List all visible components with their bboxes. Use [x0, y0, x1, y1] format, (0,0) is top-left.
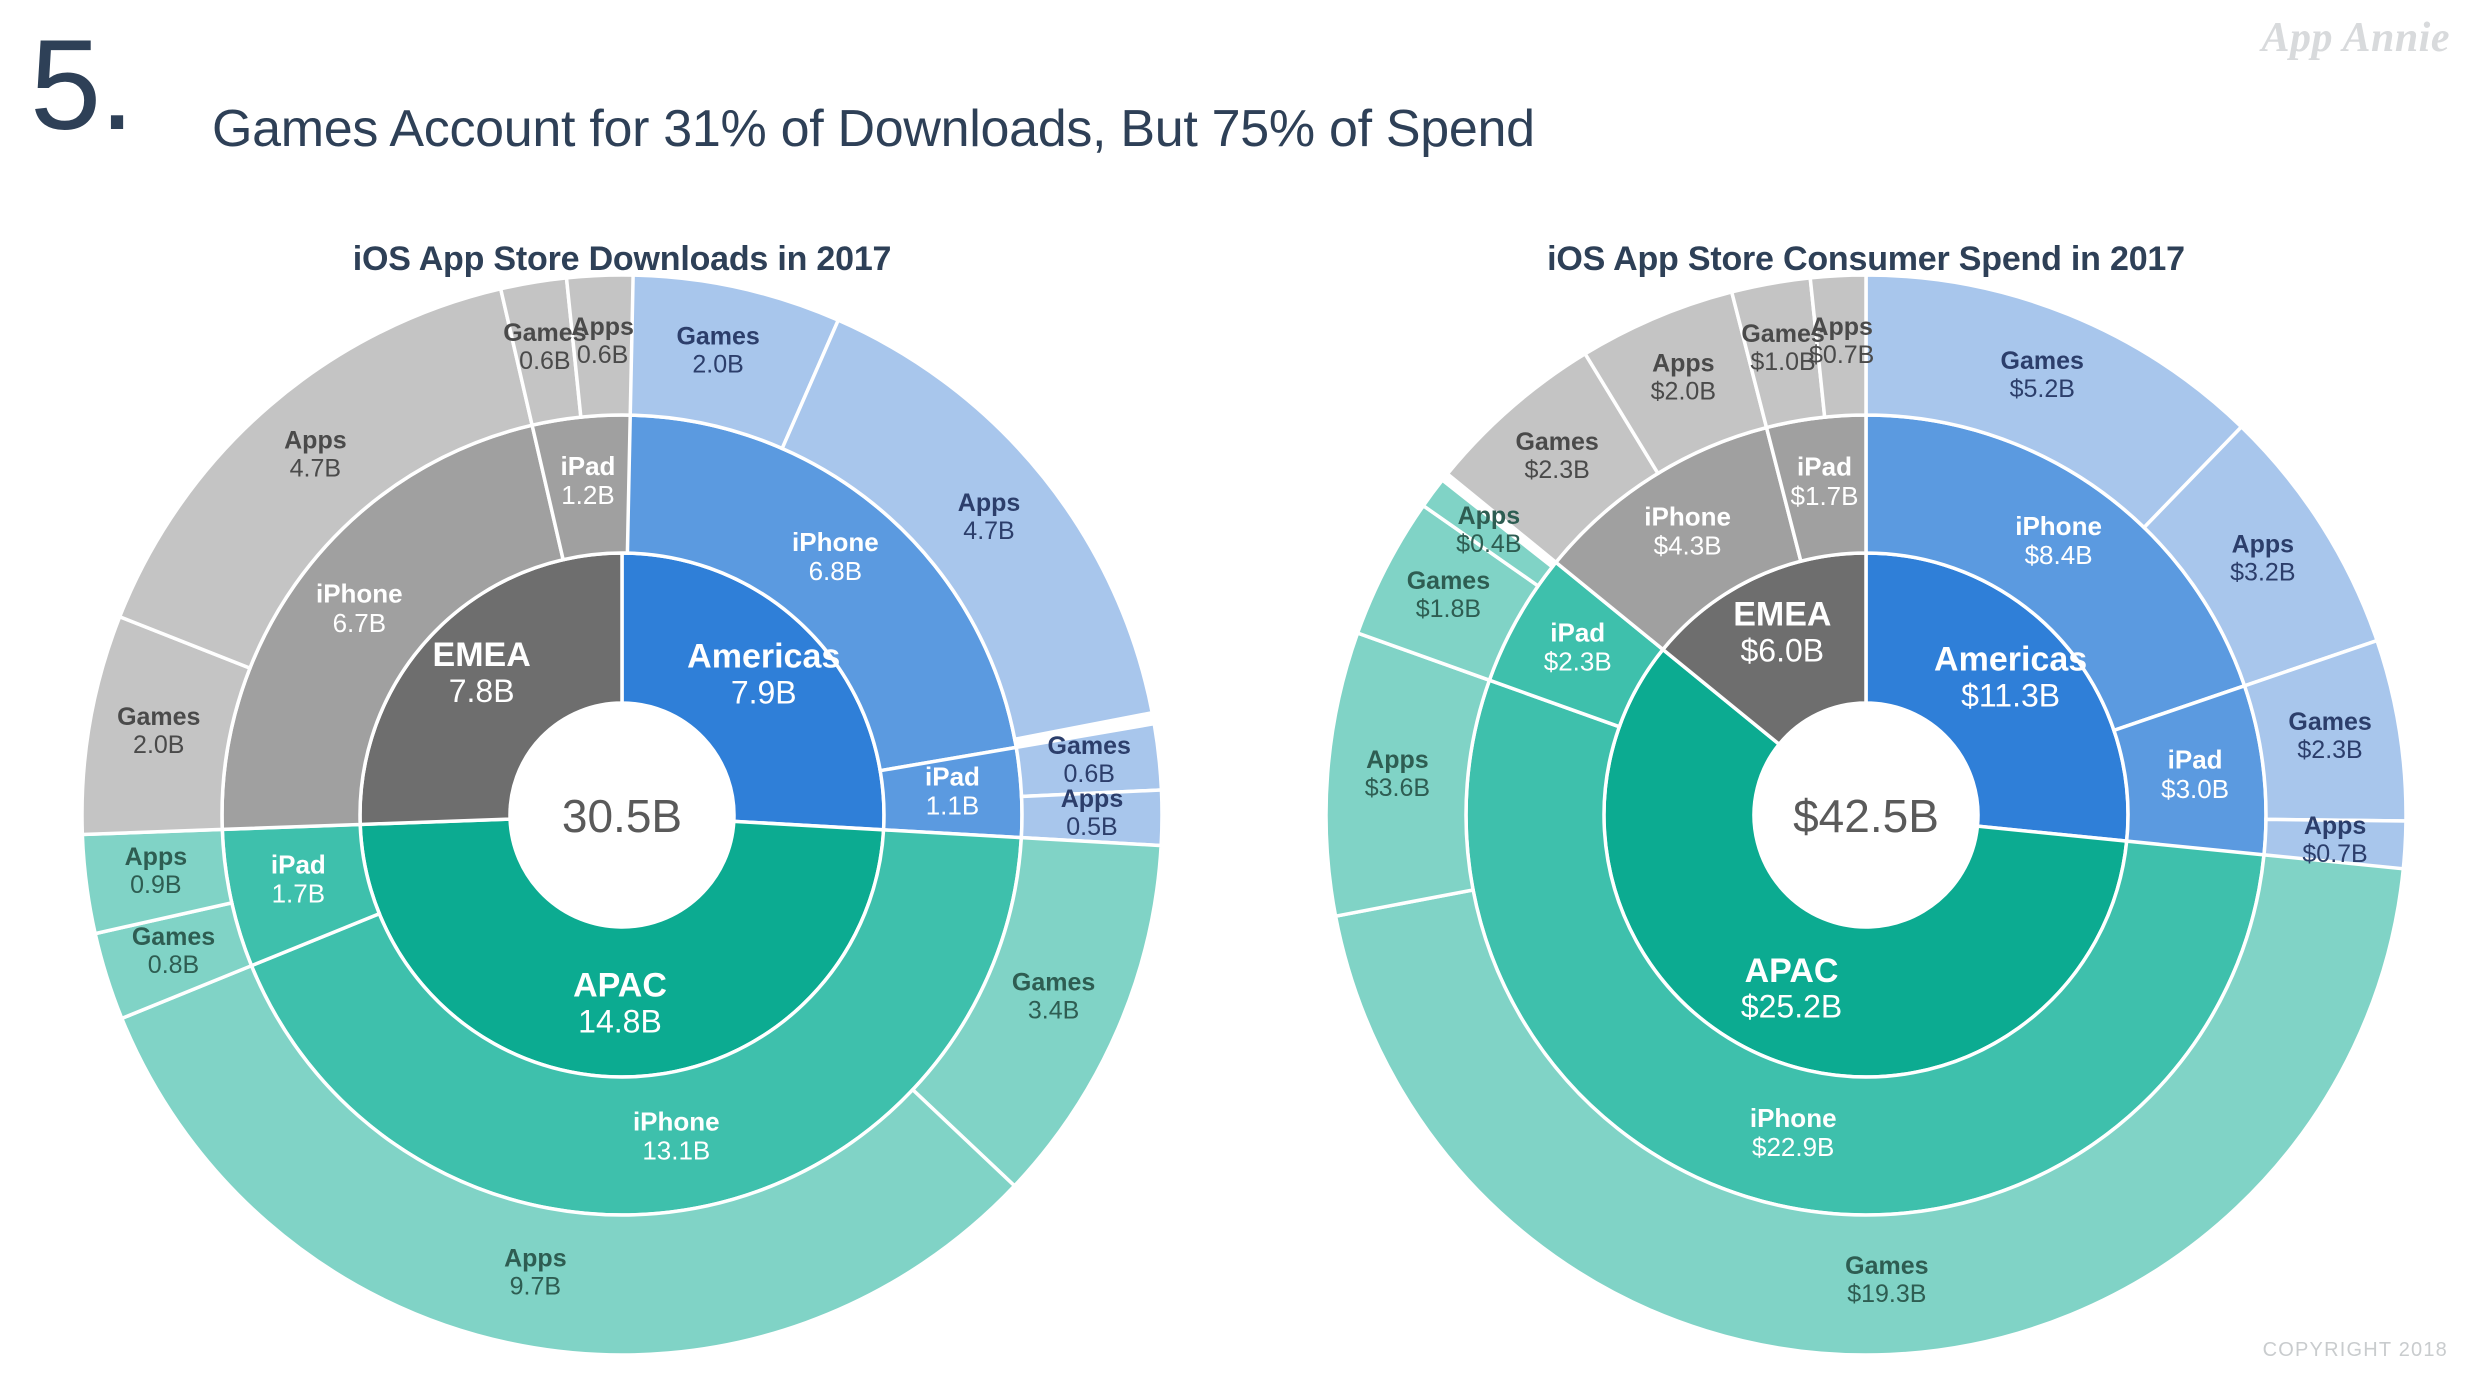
sunburst-center-hole [510, 703, 734, 927]
sunburst-spend-wrap: App Annie$42.5BAmericas$11.3BiPhone$8.4B… [1244, 285, 2488, 1345]
slide-canvas: App Annie 5. Games Account for 31% of Do… [0, 0, 2488, 1384]
slide-number: 5. [30, 22, 133, 150]
chart-spend: iOS App Store Consumer Spend in 2017 App… [1244, 240, 2488, 1345]
chart-title-downloads: iOS App Store Downloads in 2017 [0, 240, 1244, 279]
app-annie-logo: App Annie [2262, 14, 2451, 62]
chart-downloads: iOS App Store Downloads in 2017 App Anni… [0, 240, 1244, 1345]
sunburst-downloads: App Annie30.5BAmericas7.9BiPhone6.8BGame… [62, 285, 1182, 1345]
sunburst-downloads-wrap: App Annie30.5BAmericas7.9BiPhone6.8BGame… [0, 285, 1244, 1345]
chart-title-spend: iOS App Store Consumer Spend in 2017 [1244, 240, 2488, 279]
copyright-notice: COPYRIGHT 2018 [2263, 1339, 2448, 1362]
sunburst-spend: App Annie$42.5BAmericas$11.3BiPhone$8.4B… [1306, 285, 2426, 1345]
page-title: Games Account for 31% of Downloads, But … [212, 103, 1535, 155]
sunburst-center-hole [1754, 703, 1978, 927]
sunburst-category-arc[interactable] [1326, 633, 1489, 916]
